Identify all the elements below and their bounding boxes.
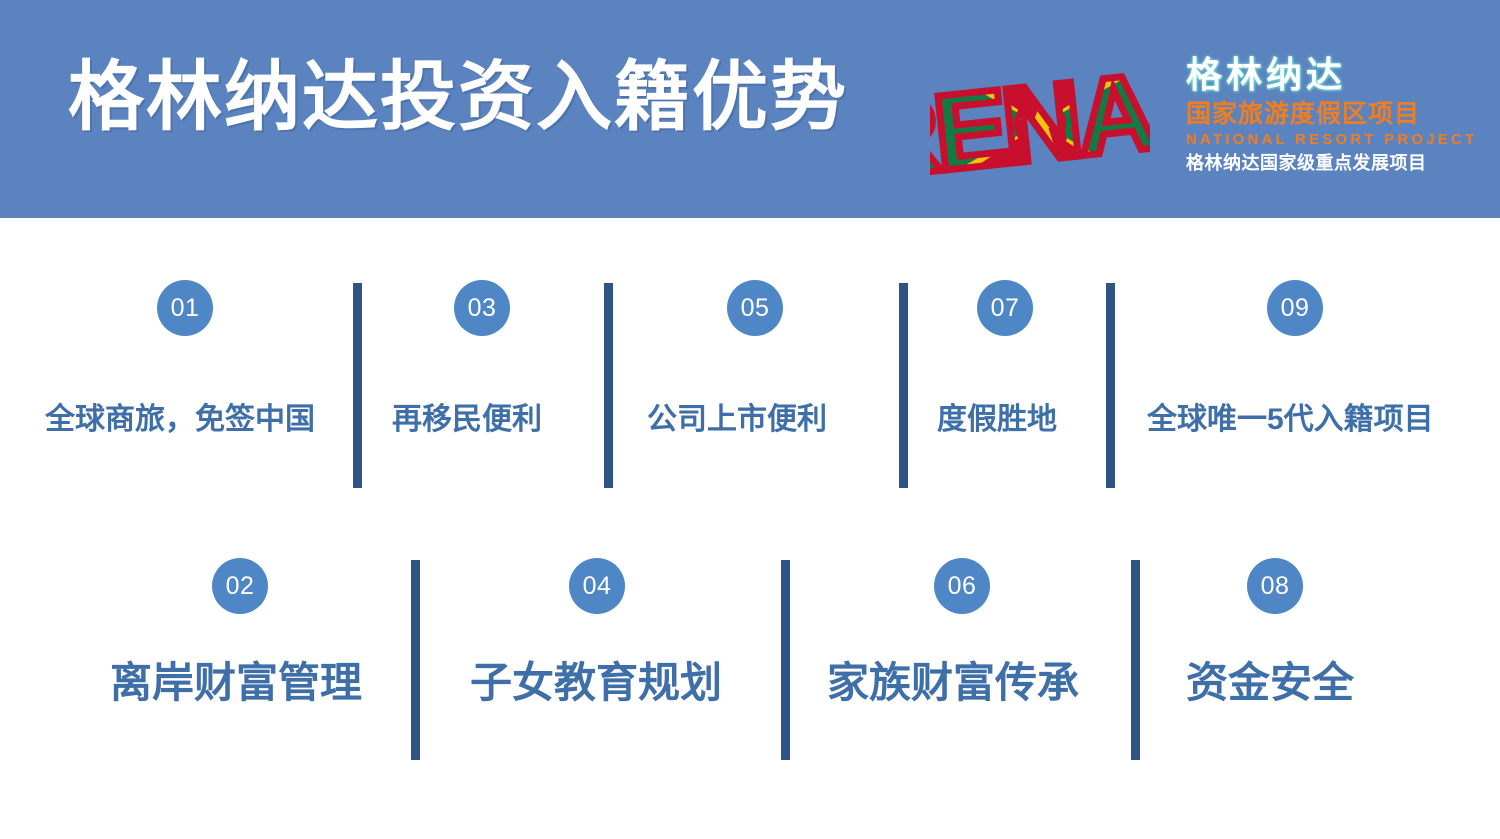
divider-4 <box>1106 283 1115 488</box>
item-badge-02: 02 <box>212 558 268 614</box>
divider-2 <box>604 283 613 488</box>
item-label-02: 离岸财富管理 <box>110 662 362 704</box>
item-label-04: 子女教育规划 <box>470 662 722 704</box>
item-label-03: 再移民便利 <box>392 405 542 435</box>
grenada-flag-wordmark-logo: GRENADA <box>930 52 1150 197</box>
item-label-01: 全球商旅，免签中国 <box>45 405 315 435</box>
brand-block: 格林纳达 国家旅游度假区项目 NATIONAL RESORT PROJECT 格… <box>1186 54 1486 174</box>
item-label-06: 家族财富传承 <box>827 662 1079 704</box>
item-badge-07: 07 <box>977 280 1033 336</box>
item-label-05: 公司上市便利 <box>647 405 827 435</box>
brand-project-cn: 国家旅游度假区项目 <box>1186 101 1486 129</box>
item-label-09: 全球唯一5代入籍项目 <box>1147 405 1434 435</box>
brand-project-en: NATIONAL RESORT PROJECT <box>1186 131 1486 149</box>
item-badge-04: 04 <box>569 558 625 614</box>
item-badge-06: 06 <box>934 558 990 614</box>
item-badge-03: 03 <box>454 280 510 336</box>
divider-3 <box>899 283 908 488</box>
item-label-08: 资金安全 <box>1186 662 1354 704</box>
svg-text:GRENADA: GRENADA <box>930 52 1150 197</box>
item-badge-01: 01 <box>157 280 213 336</box>
divider-5 <box>411 560 420 760</box>
item-badge-08: 08 <box>1247 558 1303 614</box>
slide-root: 格林纳达投资入籍优势 GRENADA <box>0 0 1500 839</box>
page-title: 格林纳达投资入籍优势 <box>68 58 848 138</box>
header-bar: 格林纳达投资入籍优势 GRENADA <box>0 0 1500 218</box>
divider-1 <box>353 283 362 488</box>
brand-tagline-cn: 格林纳达国家级重点发展项目 <box>1186 153 1486 175</box>
divider-7 <box>1131 560 1140 760</box>
item-label-07: 度假胜地 <box>937 405 1057 435</box>
item-badge-05: 05 <box>727 280 783 336</box>
divider-6 <box>781 560 790 760</box>
item-badge-09: 09 <box>1267 280 1323 336</box>
brand-name-cn: 格林纳达 <box>1186 54 1486 95</box>
